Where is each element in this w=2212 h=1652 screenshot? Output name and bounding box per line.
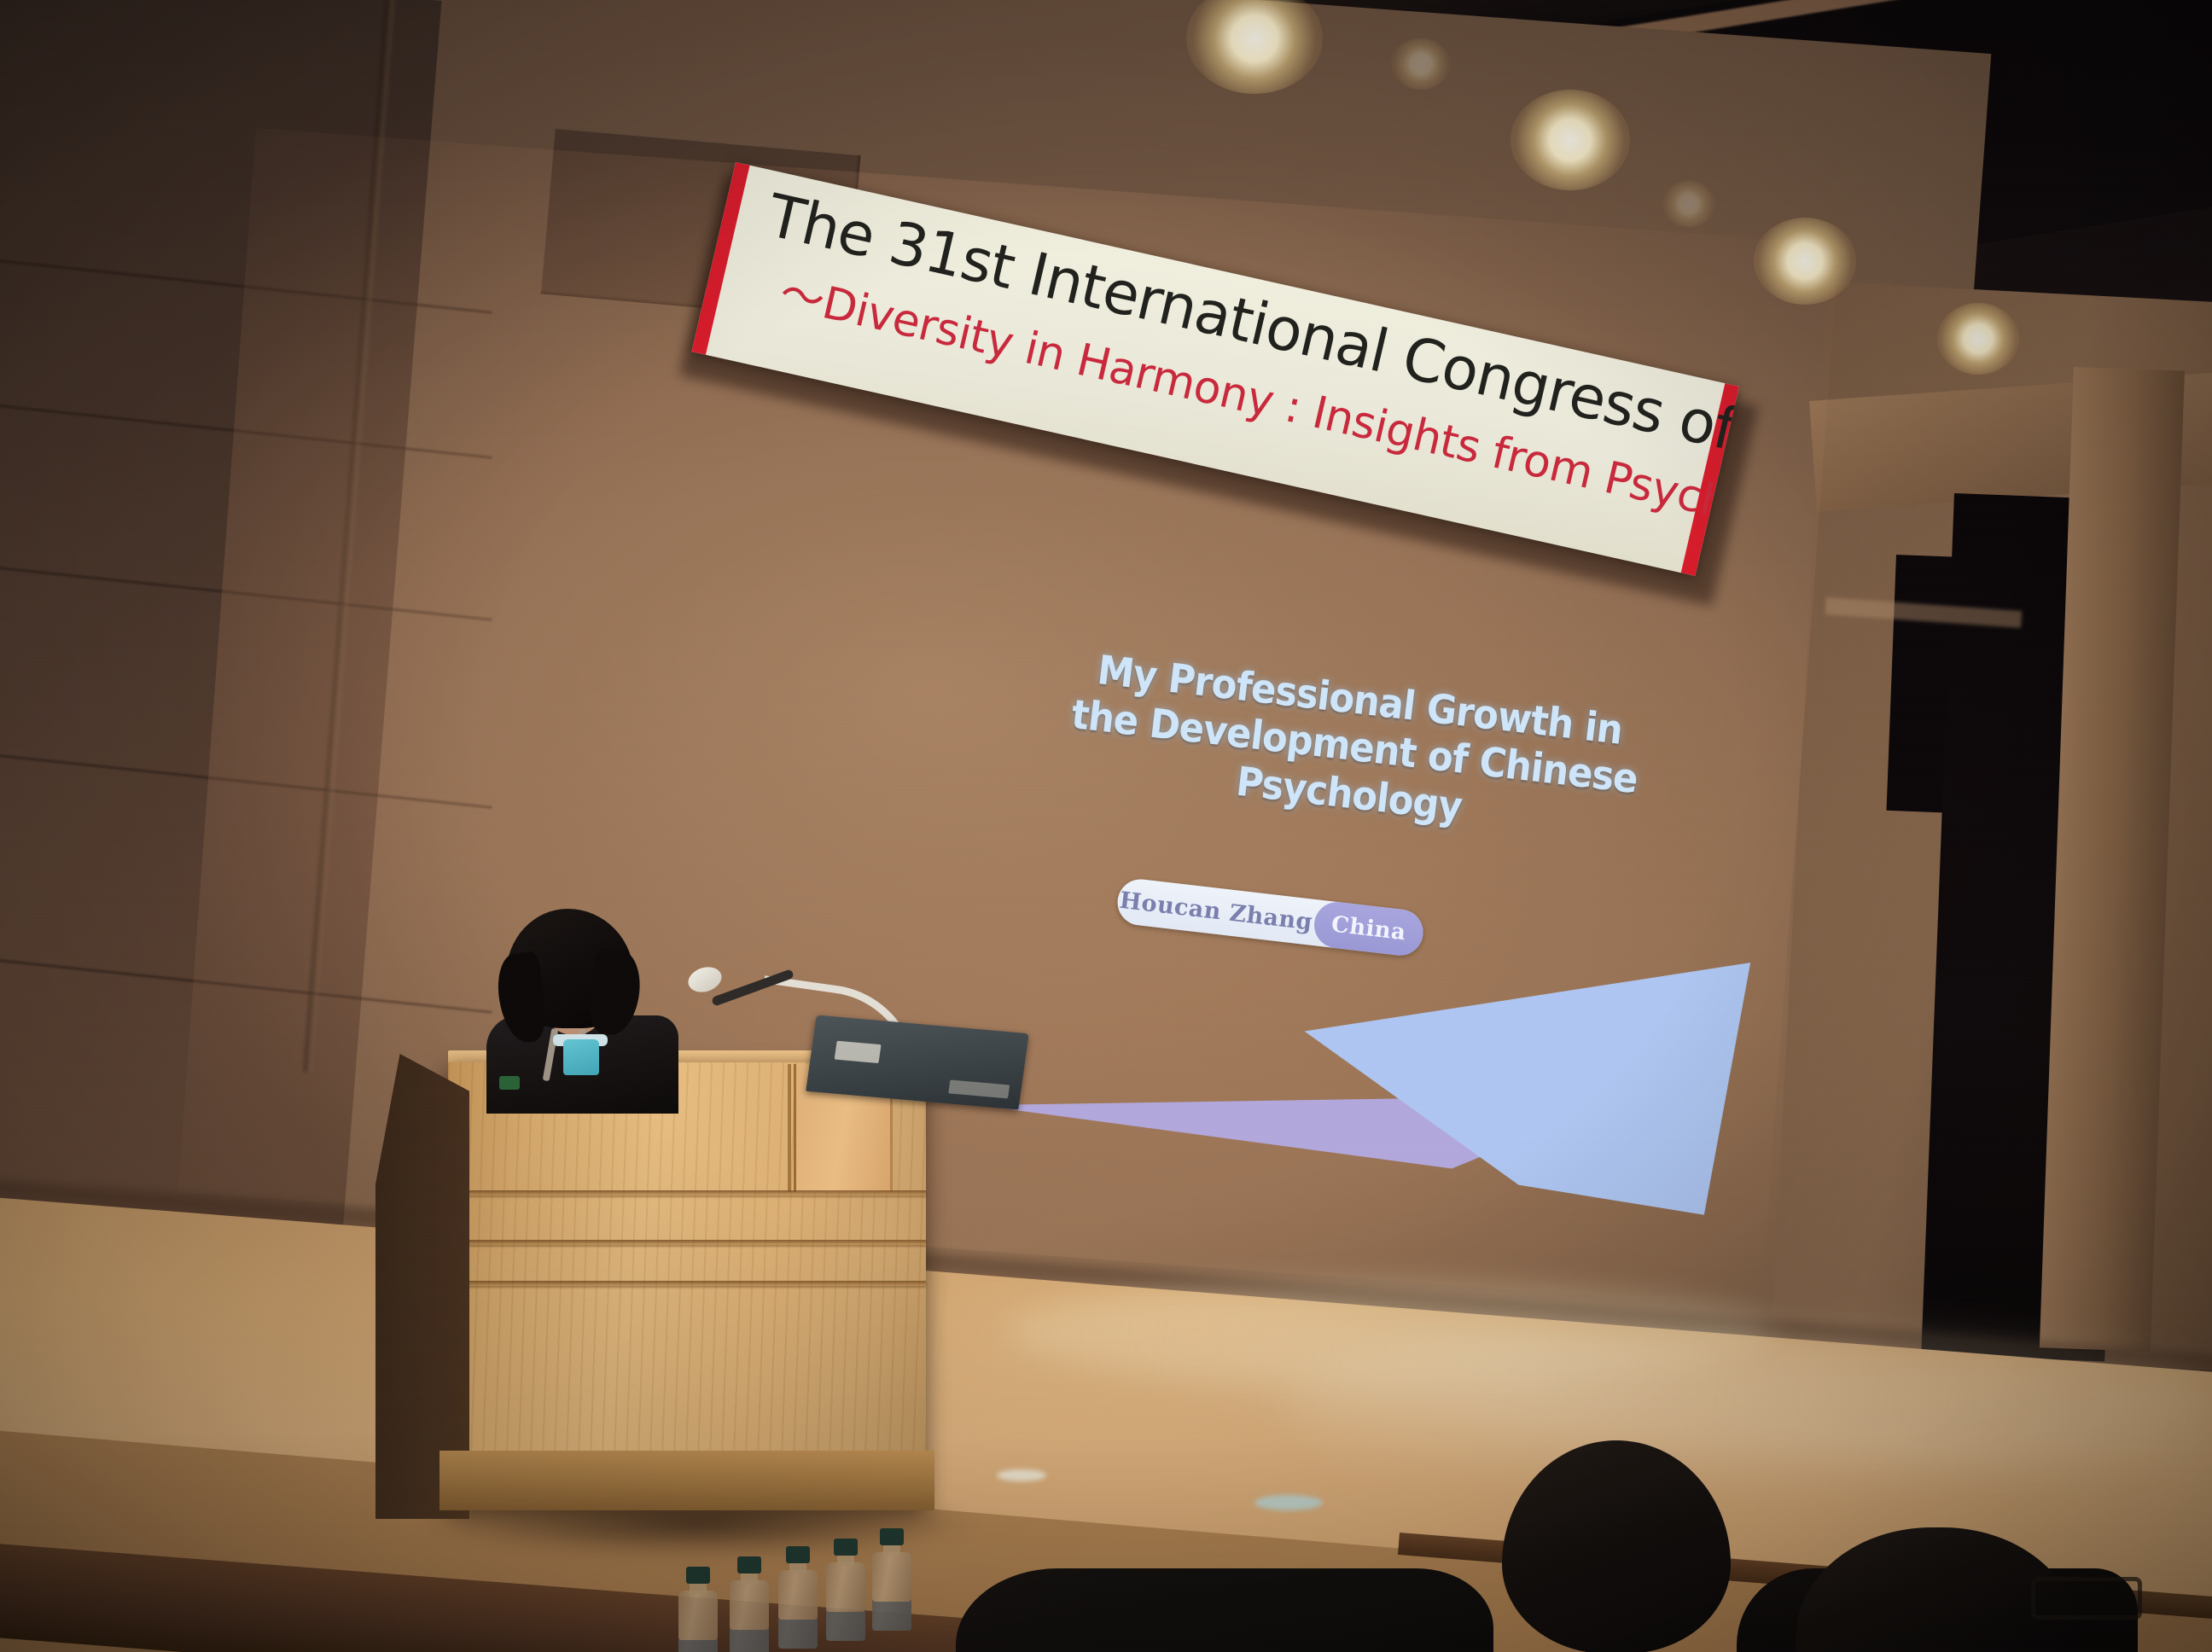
podium-groove — [448, 1190, 926, 1195]
bottle-body — [826, 1562, 865, 1641]
bottle-body — [730, 1580, 769, 1652]
speaker — [482, 909, 738, 1105]
laptop-logo — [948, 1079, 1010, 1098]
bottle-body — [872, 1552, 911, 1631]
foreground-bag — [956, 1568, 1493, 1652]
laptop-sticker — [835, 1041, 882, 1063]
floor-gloss — [1280, 1331, 2212, 1476]
bottle-cap — [686, 1567, 710, 1584]
blue-triangle-shape — [1289, 912, 1750, 1217]
stage-photograph: The 31st International Congress of Psych… — [0, 0, 2212, 1652]
speaker-badge — [499, 1076, 520, 1090]
bottle-cap — [834, 1539, 858, 1556]
bottle-cap — [786, 1546, 810, 1563]
bottle-body — [778, 1570, 818, 1649]
eyeglasses — [2031, 1577, 2142, 1620]
bottle-body — [678, 1591, 718, 1652]
bottle-cap — [880, 1528, 904, 1545]
water-bottle — [778, 1548, 818, 1649]
bottle-cap — [737, 1556, 761, 1573]
podium-front-panel — [448, 1062, 926, 1506]
water-bottle — [826, 1540, 865, 1641]
projected-slide: My Professional Growth in the Developmen… — [870, 627, 1796, 1253]
podium-groove — [448, 1281, 926, 1286]
water-bottle — [678, 1568, 718, 1652]
podium — [375, 1062, 1007, 1540]
podium-groove — [448, 1240, 926, 1245]
podium-base — [439, 1451, 934, 1510]
drink-cup — [563, 1039, 599, 1075]
floor-light-reflection — [1254, 1495, 1323, 1510]
water-bottle — [872, 1530, 911, 1631]
podium-side-panel — [375, 1054, 469, 1519]
water-bottle — [730, 1558, 769, 1652]
